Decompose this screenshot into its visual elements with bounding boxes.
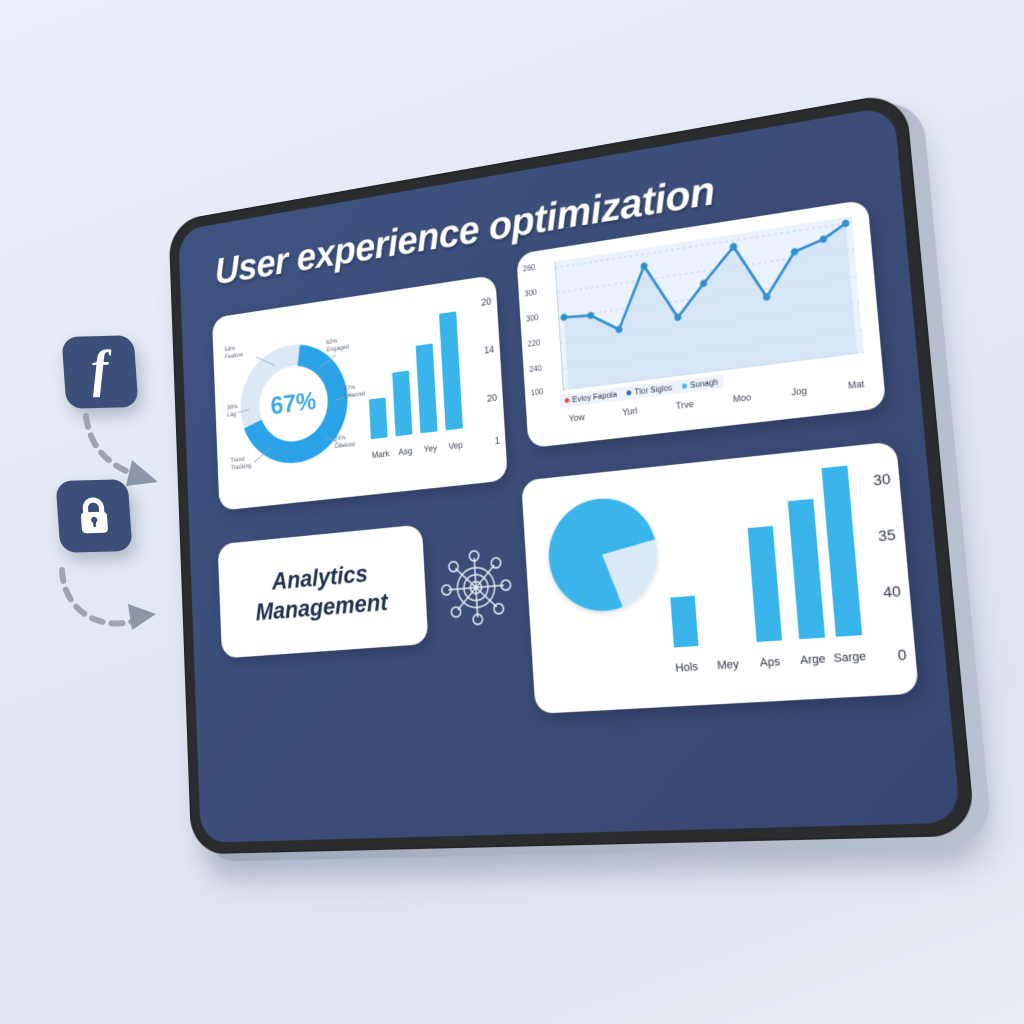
growth-axis-label-0: 30: [873, 470, 892, 489]
network-hub-icon[interactable]: [438, 546, 515, 629]
donut-chart[interactable]: 67% 54%Feature 62%Engaged 47%Channel 25%…: [224, 311, 366, 495]
pbar-0: [670, 596, 698, 648]
donut-annotation-4: TrendTracking: [231, 455, 252, 472]
bar-axis-label-2: 20: [487, 393, 498, 405]
bar-label-3: Vep: [442, 439, 470, 452]
donut-card-bar-chart[interactable]: Mark Asg Yey Vep: [359, 296, 476, 462]
donut-annotation-0: 54%Feature: [224, 344, 243, 361]
pbar-4: [822, 466, 863, 637]
growth-axis-label-1: 35: [878, 526, 897, 545]
pbar-2: [748, 526, 782, 642]
share-pie-chart-shape: [545, 494, 660, 615]
pbar-1: [670, 646, 694, 648]
x-tick-0: Yow: [568, 412, 585, 424]
line-chart-svg: [554, 216, 863, 390]
growth-axis-label-2: 40: [883, 582, 902, 601]
analytics-management-label: Analytics Management: [219, 554, 427, 630]
tablet-screen: User experience optimization: [178, 106, 961, 843]
x-tick-2: Trve: [675, 399, 694, 411]
bar-0: [369, 397, 388, 439]
donut-annotation-3: 25%Deviced: [334, 434, 355, 452]
bar-axis-label-0: 20: [481, 297, 492, 309]
lock-icon: [72, 494, 115, 539]
x-tick-5: Mat: [847, 379, 864, 391]
donut-annotation-5: 38%Lag: [227, 404, 238, 420]
facebook-f-glyph: f: [89, 344, 110, 396]
pbar-3: [788, 499, 825, 639]
line-chart-plot[interactable]: [554, 216, 863, 390]
pbar-label-1: Mey: [706, 658, 751, 673]
growth-breakdown-card[interactable]: Hols Mey Aps Arge Sarge 30 35 40 0: [521, 441, 919, 714]
x-tick-3: Moo: [733, 392, 752, 404]
bar-label-2: Yey: [417, 442, 445, 455]
y-tick-1: 300: [524, 288, 537, 299]
bar-3: [439, 311, 463, 430]
legend-item-2[interactable]: Sunagh: [682, 377, 719, 391]
legend-label-1: Tler Sigles: [634, 383, 672, 397]
y-tick-3: 220: [527, 338, 540, 348]
share-pie-chart[interactable]: [545, 494, 660, 615]
bar-1: [392, 371, 412, 437]
donut-metrics-card[interactable]: 67% 54%Feature 62%Engaged 47%Channel 25%…: [212, 275, 508, 511]
bar-label-0: Mark: [367, 448, 394, 461]
tablet-device: User experience optimization: [168, 91, 977, 864]
facebook-app-icon[interactable]: f: [61, 335, 138, 409]
y-tick-0: 260: [523, 263, 536, 274]
tablet-bezel: User experience optimization: [168, 91, 976, 854]
dashed-arrow-icon-2: [52, 556, 172, 646]
growth-bar-chart[interactable]: Hols Mey Aps Arge Sarge: [658, 465, 870, 681]
bar-axis-label-3: 1: [494, 436, 500, 447]
y-tick-2: 300: [526, 313, 539, 323]
analytics-management-card[interactable]: Analytics Management: [218, 524, 429, 658]
lock-app-icon[interactable]: [55, 479, 132, 553]
scene: f User experience optimization: [0, 0, 1024, 1024]
y-tick-4: 240: [529, 364, 542, 374]
page-title: User experience optimization: [214, 167, 716, 293]
bar-axis-label-1: 14: [484, 345, 495, 357]
donut-annotation-1: 62%Engaged: [326, 336, 349, 354]
legend-dot-icon-2: [682, 383, 687, 389]
legend-item-1[interactable]: Tler Sigles: [626, 383, 672, 398]
y-tick-5: 100: [530, 387, 543, 397]
bar-label-1: Asg: [392, 445, 419, 458]
bar-2: [416, 343, 438, 433]
